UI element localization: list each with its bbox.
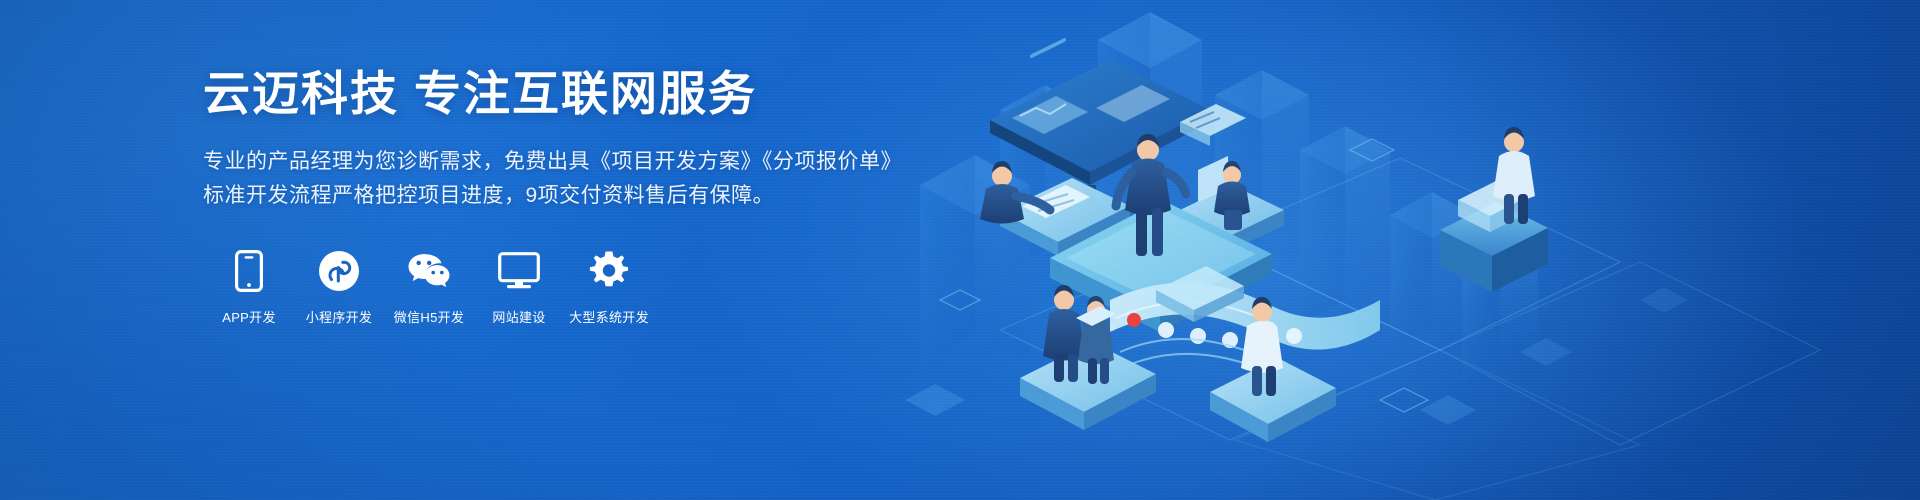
wechat-icon [407,249,451,293]
mini-program-icon [317,249,361,293]
service-list: APP开发 小程序开发 [213,249,1103,326]
banner-content: 云迈科技 专注互联网服务 专业的产品经理为您诊断需求，免费出具《项目开发方案》《… [203,66,1103,326]
banner-headline: 云迈科技 专注互联网服务 [203,66,1103,121]
subtitle-line-2: 标准开发流程严格把控项目进度，9项交付资料售后有保障。 [203,179,1103,213]
monitor-icon [497,249,541,293]
mobile-phone-icon [227,249,271,293]
service-label: 小程序开发 [306,307,373,326]
service-item-wechat-h5[interactable]: 微信H5开发 [393,249,465,326]
banner-subtitle: 专业的产品经理为您诊断需求，免费出具《项目开发方案》《分项报价单》 标准开发流程… [203,145,1103,213]
hero-banner: 云迈科技 专注互联网服务 专业的产品经理为您诊断需求，免费出具《项目开发方案》《… [0,0,1920,500]
gear-icon [587,249,631,293]
figure-cube-stack [1440,127,1548,292]
service-item-app[interactable]: APP开发 [213,249,285,326]
service-label: 网站建设 [492,307,545,326]
service-label: APP开发 [222,307,276,326]
service-item-large-system[interactable]: 大型系统开发 [573,249,645,326]
service-label: 微信H5开发 [394,307,464,326]
subtitle-line-1: 专业的产品经理为您诊断需求，免费出具《项目开发方案》《分项报价单》 [203,145,1103,179]
service-item-miniprogram[interactable]: 小程序开发 [303,249,375,326]
service-label: 大型系统开发 [569,307,649,326]
service-item-website[interactable]: 网站建设 [483,249,555,326]
